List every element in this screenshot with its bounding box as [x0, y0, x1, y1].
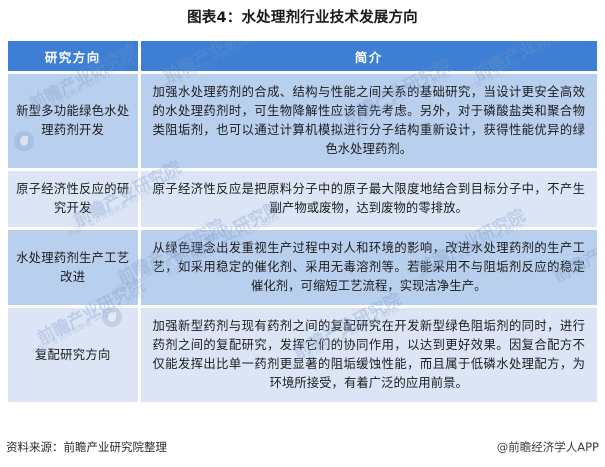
table-row: 新型多功能绿色水处理药剂开发 加强水处理药剂的合成、结构与性能之间关系的基础研究…	[8, 73, 597, 170]
table-container: 研究方向 简介 新型多功能绿色水处理药剂开发 加强水处理药剂的合成、结构与性能之…	[8, 41, 597, 422]
table-row: 复配研究方向 加强新型药剂与现有药剂之间的复配研究在开发新型绿色阻垢剂的同时，进…	[8, 307, 597, 403]
cell-description: 原子经济性反应是把原料分子中的原子最大限度地结合到目标分子中，不产生副产物或废物…	[139, 170, 597, 229]
brand-label: @前瞻经济学人APP	[497, 438, 599, 456]
tech-direction-table: 研究方向 简介 新型多功能绿色水处理药剂开发 加强水处理药剂的合成、结构与性能之…	[8, 41, 597, 402]
table-row: 水处理药剂生产工艺改进 从绿色理念出发重视生产过程中对人和环境的影响，改进水处理…	[8, 229, 597, 307]
table-body: 新型多功能绿色水处理药剂开发 加强水处理药剂的合成、结构与性能之间关系的基础研究…	[8, 73, 597, 403]
footer: 资料来源：前瞻产业研究院整理 @前瞻经济学人APP	[0, 438, 605, 458]
page-title: 图表4：水处理剂行业技术发展方向	[0, 8, 605, 28]
cell-direction: 水处理药剂生产工艺改进	[8, 229, 139, 307]
cell-description: 加强新型药剂与现有药剂之间的复配研究在开发新型绿色阻垢剂的同时，进行药剂之间的复…	[139, 307, 597, 403]
table-header-row: 研究方向 简介	[8, 41, 597, 73]
cell-description: 从绿色理念出发重视生产过程中对人和环境的影响，改进水处理药剂的生产工艺，如采用稳…	[139, 229, 597, 307]
cell-direction: 原子经济性反应的研究开发	[8, 170, 139, 229]
column-header-description: 简介	[139, 41, 597, 73]
table-row: 原子经济性反应的研究开发 原子经济性反应是把原料分子中的原子最大限度地结合到目标…	[8, 170, 597, 229]
cell-direction: 新型多功能绿色水处理药剂开发	[8, 73, 139, 170]
chart-page: 图表4：水处理剂行业技术发展方向 研究方向 简介 新型多功能绿色水处理药剂开发 …	[0, 0, 605, 467]
cell-direction: 复配研究方向	[8, 307, 139, 403]
table-header: 研究方向 简介	[8, 41, 597, 73]
column-header-direction: 研究方向	[8, 41, 139, 73]
source-label: 资料来源：前瞻产业研究院整理	[6, 438, 167, 456]
cell-description: 加强水处理药剂的合成、结构与性能之间关系的基础研究，当设计更安全高效的水处理药剂…	[139, 73, 597, 170]
